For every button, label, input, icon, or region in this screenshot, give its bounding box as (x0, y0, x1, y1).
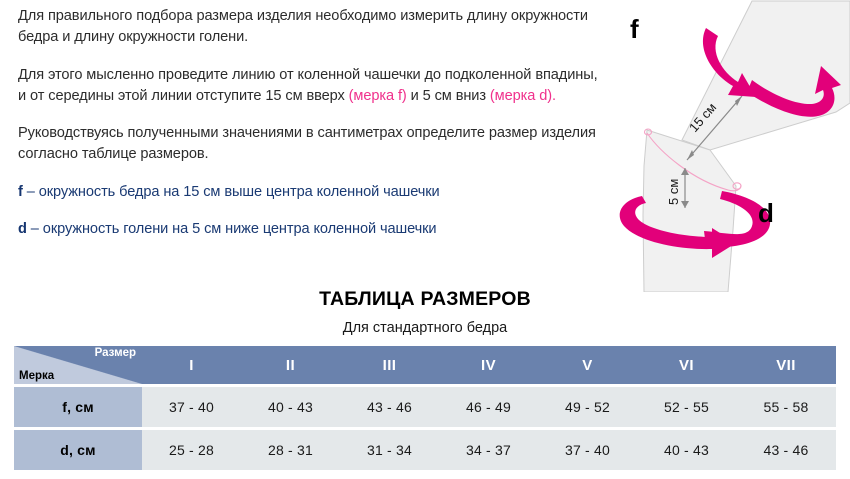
mark-d-highlight: (мерка d). (490, 88, 556, 104)
legend-text-d: окружность голени на 5 см ниже центра ко… (43, 221, 437, 237)
legend-text-f: окружность бедра на 15 см выше центра ко… (39, 184, 440, 200)
cell-d-4: 34 - 37 (439, 430, 538, 470)
size-table-subtitle: Для стандартного бедра (0, 320, 850, 336)
legend-item-d: d – окружность голени на 5 см ниже центр… (18, 219, 598, 240)
cell-d-3: 31 - 34 (340, 430, 439, 470)
table-row: d, см 25 - 28 28 - 31 31 - 34 34 - 37 37… (14, 430, 836, 470)
table-row: f, см 37 - 40 40 - 43 43 - 46 46 - 49 49… (14, 387, 836, 427)
instructions-text-block: Для правильного подбора размера изделия … (18, 6, 598, 256)
column-header-4: IV (439, 346, 538, 384)
mark-f-highlight: (мерка f) (349, 88, 407, 104)
size-table: Размер Мерка I II III IV V VI VII f, см … (14, 346, 836, 470)
corner-measure-label: Мерка (19, 370, 54, 382)
column-header-1: I (142, 346, 241, 384)
size-table-title: ТАБЛИЦА РАЗМЕРОВ (0, 288, 850, 311)
cell-d-5: 37 - 40 (538, 430, 637, 470)
label-f: f (630, 14, 639, 44)
cell-f-2: 40 - 43 (241, 387, 340, 427)
cell-f-1: 37 - 40 (142, 387, 241, 427)
cell-d-6: 40 - 43 (637, 430, 736, 470)
cell-f-5: 49 - 52 (538, 387, 637, 427)
column-header-5: V (538, 346, 637, 384)
column-header-6: VI (637, 346, 736, 384)
corner-header-cell: Размер Мерка (14, 346, 142, 384)
column-header-3: III (340, 346, 439, 384)
corner-size-label: Размер (95, 347, 136, 359)
cell-f-3: 43 - 46 (340, 387, 439, 427)
row-label-d: d, см (14, 430, 142, 470)
intro-paragraph-1: Для правильного подбора размера изделия … (18, 6, 598, 48)
column-header-7: VII (736, 346, 836, 384)
row-label-f: f, см (14, 387, 142, 427)
leg-measurement-illustration: 15 см 5 см f d (600, 0, 850, 292)
cell-f-7: 55 - 58 (736, 387, 836, 427)
intro-paragraph-3: Руководствуясь полученными значениями в … (18, 123, 598, 165)
cell-f-6: 52 - 55 (637, 387, 736, 427)
label-d: d (758, 198, 774, 228)
legend-key-d: d (18, 221, 27, 237)
cell-d-1: 25 - 28 (142, 430, 241, 470)
cell-d-7: 43 - 46 (736, 430, 836, 470)
cell-f-4: 46 - 49 (439, 387, 538, 427)
legend-item-f: f – окружность бедра на 15 см выше центр… (18, 182, 598, 203)
legend-dash-glyph-d: – (31, 221, 39, 237)
intro-paragraph-2-part2: и 5 см вниз (407, 88, 490, 104)
legend-dash-glyph-f: – (27, 184, 35, 200)
column-header-2: II (241, 346, 340, 384)
cell-d-2: 28 - 31 (241, 430, 340, 470)
intro-paragraph-2: Для этого мысленно проведите линию от ко… (18, 65, 598, 107)
dimension-5cm-label: 5 см (666, 179, 681, 205)
size-table-header-row: Размер Мерка I II III IV V VI VII (14, 346, 836, 384)
calf-silhouette (643, 130, 736, 292)
